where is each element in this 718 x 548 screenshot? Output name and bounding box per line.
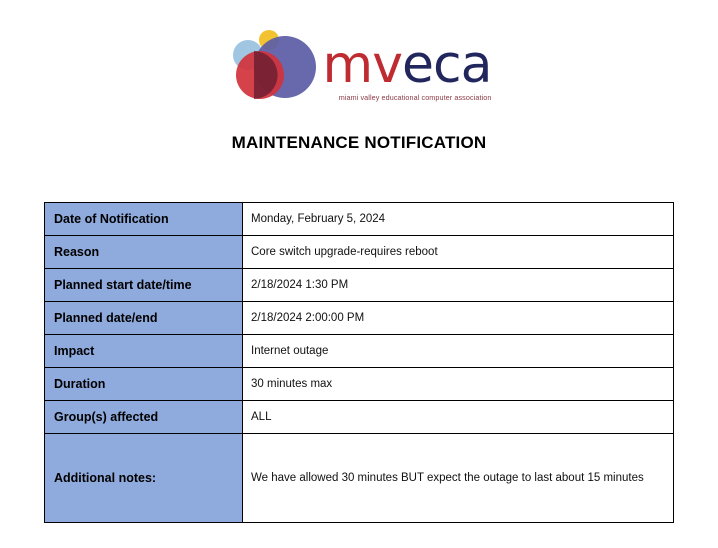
table-row: Duration 30 minutes max [45,368,674,401]
table-row: Planned date/end 2/18/2024 2:00:00 PM [45,302,674,335]
page-title: MAINTENANCE NOTIFICATION [0,133,718,153]
row-label-reason: Reason [45,236,243,269]
row-label-date-of-notification: Date of Notification [45,203,243,236]
row-value-groups-affected: ALL [243,401,674,434]
table-row: Date of Notification Monday, February 5,… [45,203,674,236]
row-value-additional-notes: We have allowed 30 minutes BUT expect th… [243,434,674,523]
row-value-impact: Internet outage [243,335,674,368]
row-label-duration: Duration [45,368,243,401]
table-row: Group(s) affected ALL [45,401,674,434]
logo-circles-mark [227,24,319,104]
row-label-additional-notes: Additional notes: [45,434,243,523]
table-body: Date of Notification Monday, February 5,… [45,203,674,523]
maintenance-details-table: Date of Notification Monday, February 5,… [44,202,674,523]
row-label-impact: Impact [45,335,243,368]
logo-inner: mveca miami valley educational computer … [227,24,492,104]
row-label-groups-affected: Group(s) affected [45,401,243,434]
row-label-planned-start: Planned start date/time [45,269,243,302]
logo-wordmark: mveca [323,39,492,91]
logo-wordmark-mv: mv [323,35,402,95]
row-value-reason: Core switch upgrade-requires reboot [243,236,674,269]
table-row: Impact Internet outage [45,335,674,368]
row-value-planned-end: 2/18/2024 2:00:00 PM [243,302,674,335]
row-label-planned-end: Planned date/end [45,302,243,335]
logo-wordmark-eca: eca [402,35,491,95]
table-row: Reason Core switch upgrade-requires rebo… [45,236,674,269]
mveca-logo: mveca miami valley educational computer … [0,24,718,104]
row-value-date-of-notification: Monday, February 5, 2024 [243,203,674,236]
row-value-duration: 30 minutes max [243,368,674,401]
logo-tagline: miami valley educational computer associ… [323,93,492,102]
row-value-planned-start: 2/18/2024 1:30 PM [243,269,674,302]
table-row: Planned start date/time 2/18/2024 1:30 P… [45,269,674,302]
logo-wordmark-wrap: mveca miami valley educational computer … [323,39,492,104]
table-row: Additional notes: We have allowed 30 min… [45,434,674,523]
